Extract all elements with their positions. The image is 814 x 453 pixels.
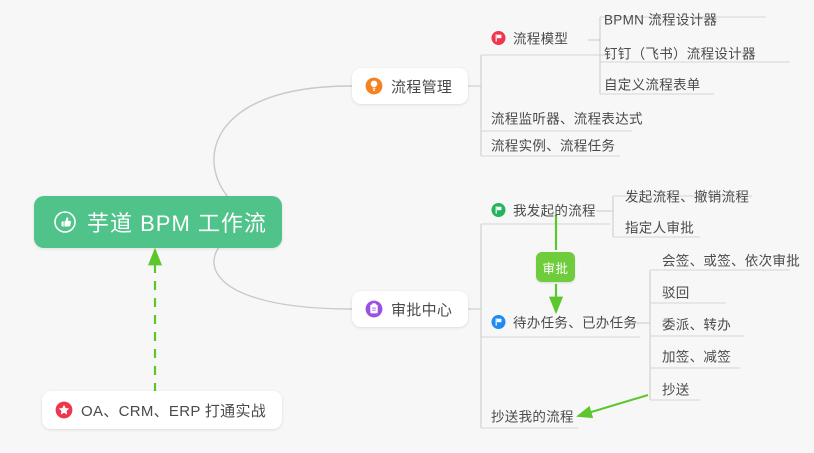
node-process-model[interactable]: 流程模型 (491, 28, 568, 53)
leaf-label: 会签、或签、依次审批 (662, 250, 800, 270)
leaf-label: BPMN 流程设计器 (604, 9, 717, 29)
leaf-label: 钉钉（飞书）流程设计器 (604, 43, 756, 63)
callout-integration[interactable]: OA、CRM、ERP 打通实战 (42, 391, 282, 429)
clipboard-icon (365, 300, 383, 318)
leaf-label: 指定人审批 (625, 217, 694, 237)
node-label: 流程模型 (513, 28, 568, 48)
leaf-label: 抄送我的流程 (491, 406, 574, 426)
leaf-label: 驳回 (662, 282, 690, 302)
badge-approval: 审批 (536, 252, 575, 282)
mindmap-canvas: 芋道 BPM 工作流 流程管理 流程模型 BPMN 流程设计器 钉钉（飞书）流程 (0, 0, 814, 453)
branch-approval-center[interactable]: 审批中心 (352, 291, 468, 327)
node-label: 我发起的流程 (513, 200, 596, 220)
leaf-bpmn-designer[interactable]: BPMN 流程设计器 (604, 9, 717, 34)
node-my-initiated[interactable]: 我发起的流程 (491, 200, 596, 225)
leaf-assignee-approval[interactable]: 指定人审批 (625, 217, 694, 242)
leaf-custom-form[interactable]: 自定义流程表单 (604, 74, 701, 99)
branch-label: 审批中心 (391, 299, 452, 320)
leaf-label: 发起流程、撤销流程 (625, 186, 749, 206)
branch-process-management[interactable]: 流程管理 (352, 68, 468, 104)
leaf-process-listener[interactable]: 流程监听器、流程表达式 (491, 108, 643, 133)
callout-label: OA、CRM、ERP 打通实战 (81, 400, 266, 421)
flag-icon (491, 30, 506, 45)
leaf-cc-to-me[interactable]: 抄送我的流程 (491, 406, 574, 431)
node-todo-done-tasks[interactable]: 待办任务、已办任务 (491, 312, 637, 337)
leaf-delegate-transfer[interactable]: 委派、转办 (662, 314, 731, 339)
leaf-process-instance[interactable]: 流程实例、流程任务 (491, 135, 615, 160)
node-label: 待办任务、已办任务 (513, 312, 637, 332)
leaf-reject[interactable]: 驳回 (662, 282, 690, 307)
leaf-carbon-copy[interactable]: 抄送 (662, 379, 690, 404)
flag-icon (491, 314, 506, 329)
badge-label: 审批 (542, 258, 568, 277)
root-node[interactable]: 芋道 BPM 工作流 (34, 196, 282, 248)
leaf-label: 加签、减签 (662, 346, 731, 366)
thumbs-up-icon (54, 211, 76, 233)
lightbulb-icon (365, 77, 383, 95)
leaf-label: 流程监听器、流程表达式 (491, 108, 643, 128)
flag-icon (491, 202, 506, 217)
leaf-label: 抄送 (662, 379, 690, 399)
leaf-label: 流程实例、流程任务 (491, 135, 615, 155)
leaf-label: 自定义流程表单 (604, 74, 701, 94)
leaf-dingtalk-designer[interactable]: 钉钉（飞书）流程设计器 (604, 43, 756, 68)
branch-label: 流程管理 (391, 76, 452, 97)
leaf-add-remove-sign[interactable]: 加签、减签 (662, 346, 731, 371)
leaf-start-cancel-process[interactable]: 发起流程、撤销流程 (625, 186, 749, 211)
leaf-countersign[interactable]: 会签、或签、依次审批 (662, 250, 800, 275)
leaf-label: 委派、转办 (662, 314, 731, 334)
root-label: 芋道 BPM 工作流 (87, 206, 267, 238)
star-icon (55, 401, 73, 419)
